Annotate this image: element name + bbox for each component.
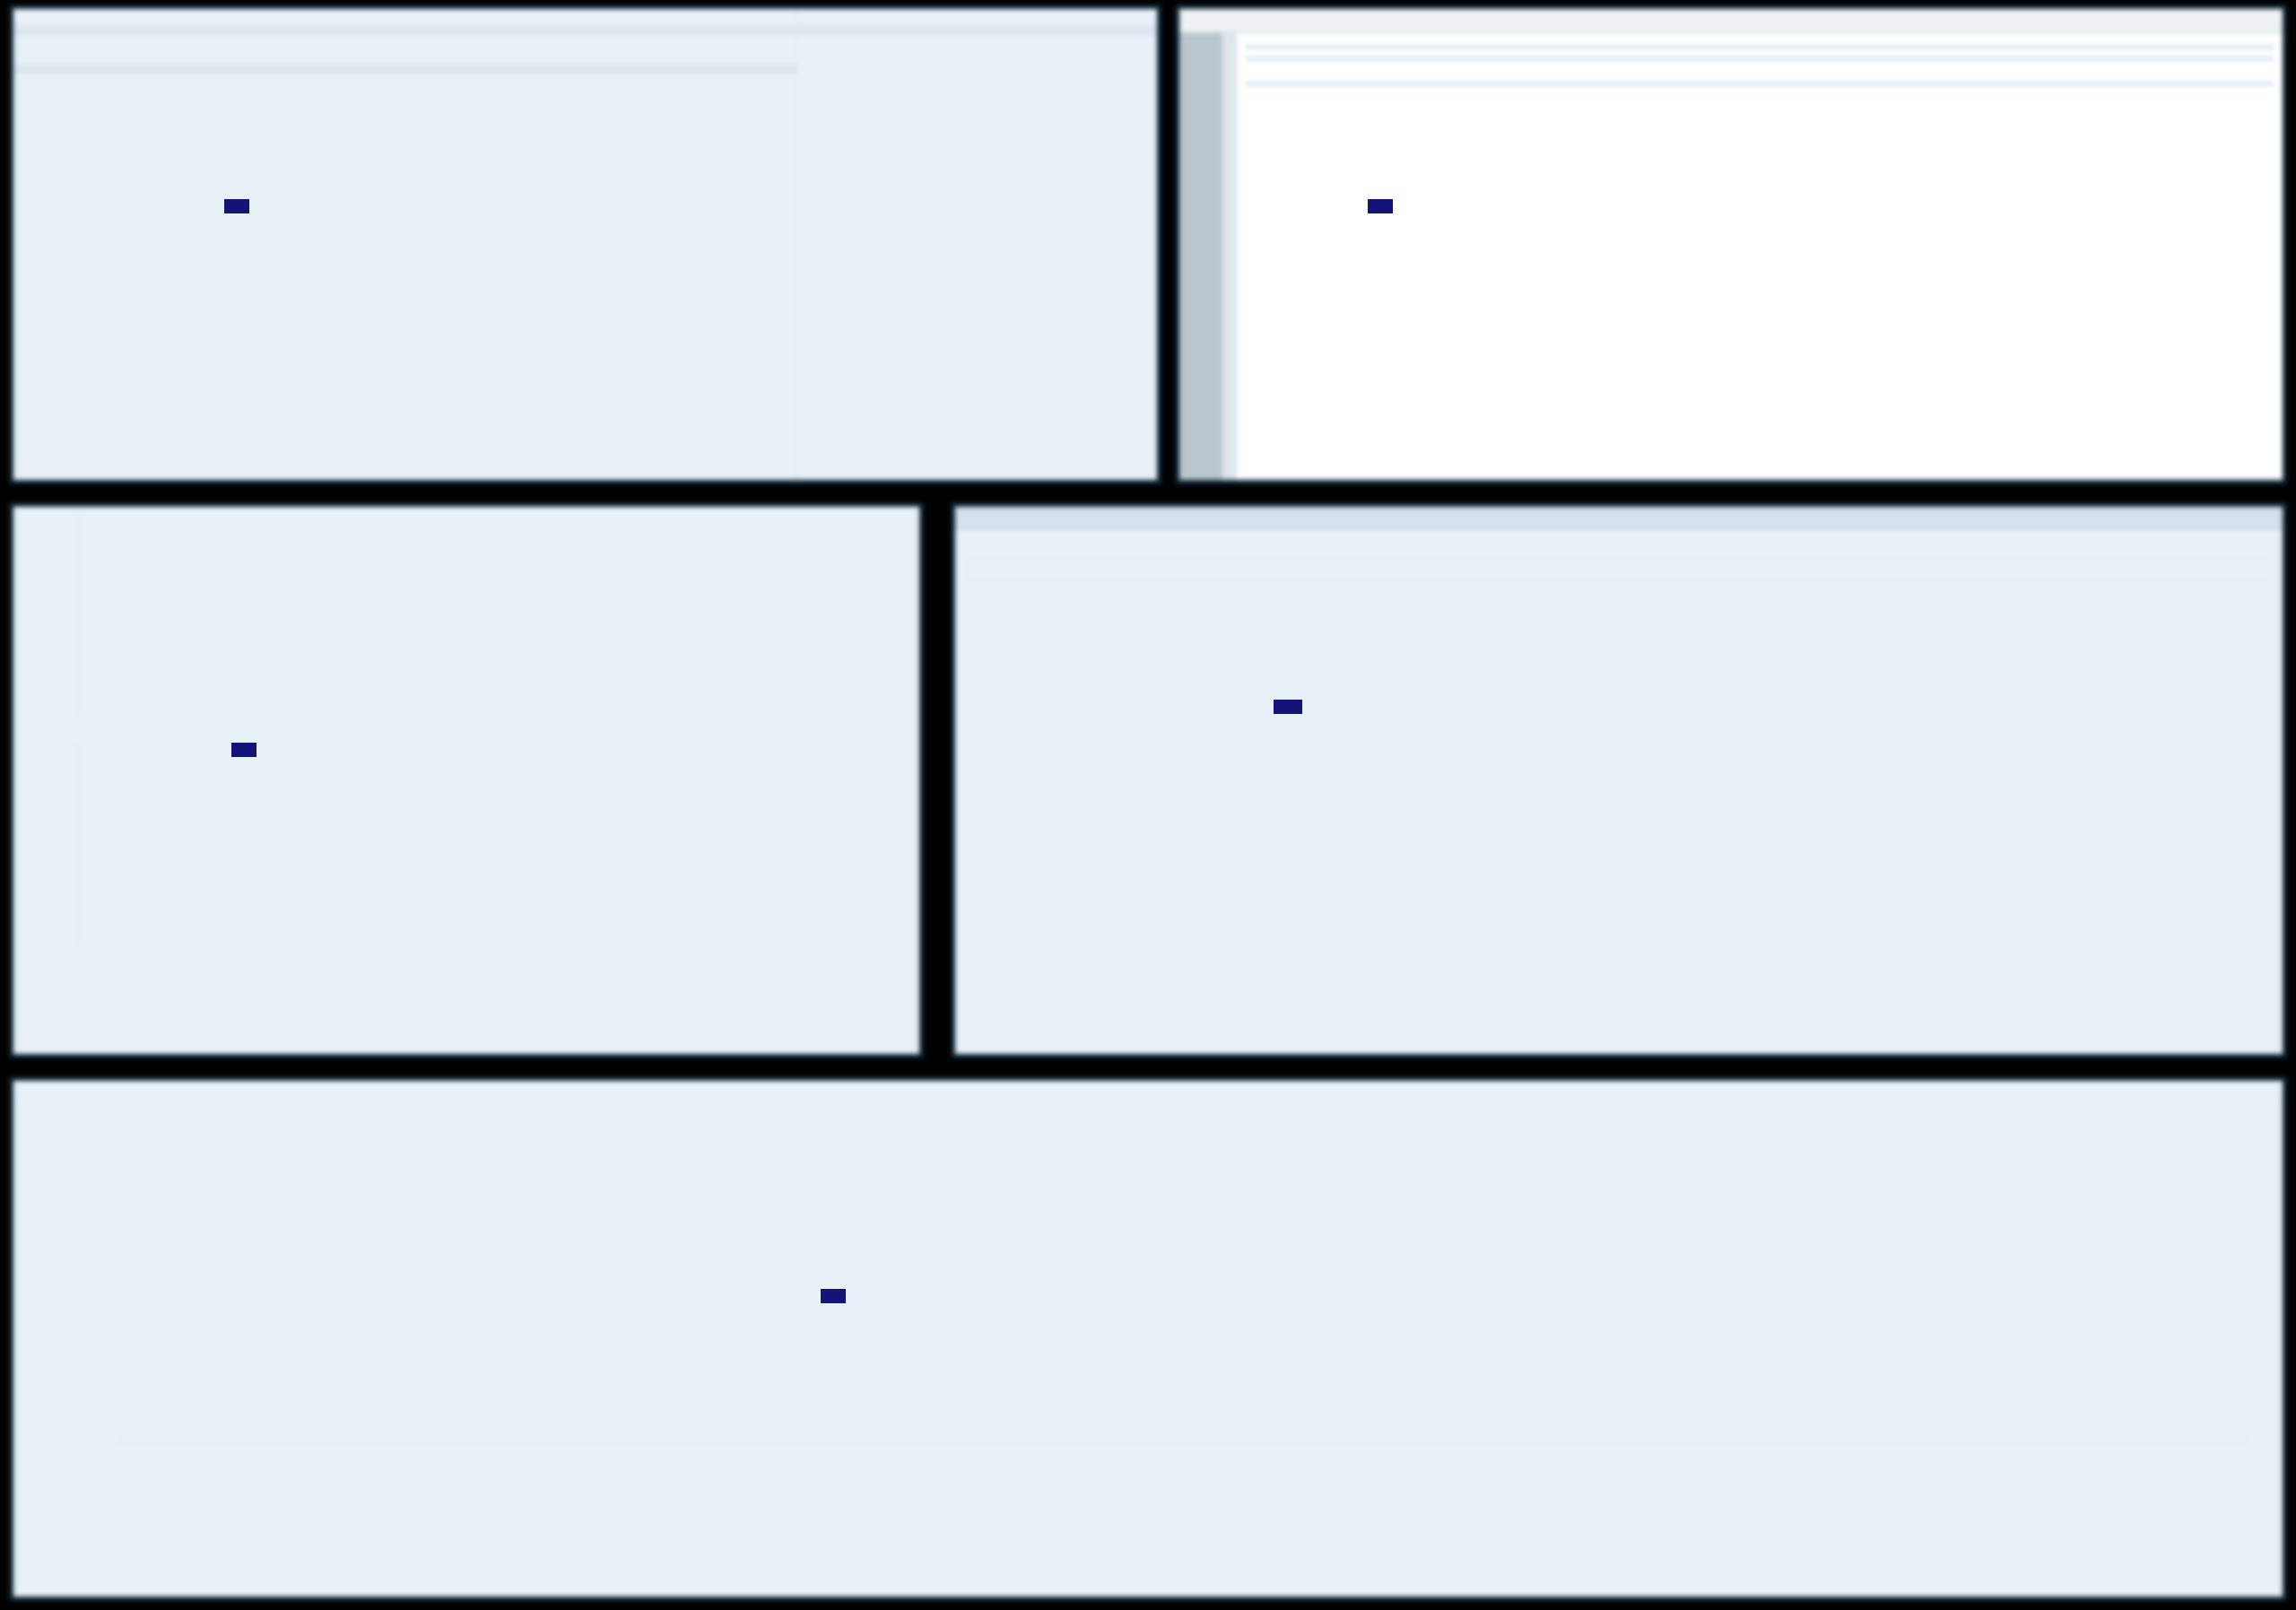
chart-legend[interactable] [13,1476,2283,1489]
ranking-table-right [798,25,1157,35]
y-axis-left [24,745,74,944]
y-axis [40,1118,112,1440]
col-name [798,25,918,35]
exec-block-2-header [1247,58,2273,59]
table-header-row [13,25,797,35]
col-dept-name [170,64,327,74]
ranking-section2-title [13,48,797,60]
project-table-2 [966,559,2272,579]
dashboard-collage [0,0,2296,1610]
exec-block-2 [1246,57,2274,60]
plot-area [76,516,857,715]
exec-block-3 [1246,83,2274,85]
col-people [640,64,797,74]
col-mom [483,64,640,74]
excel-sheet[interactable] [1237,33,2283,480]
panel-monthly-chart [9,1076,2287,1601]
excel-row-gutter [1222,33,1237,480]
y-axis-right [858,745,909,944]
excel-left-rail [1179,33,1222,480]
chart-order-forecast [13,507,919,731]
caption-executive [1368,199,1393,213]
caption-monthly [821,1289,846,1303]
chart-legend[interactable] [24,961,909,968]
panel-forecast-charts [9,502,924,1058]
panel-project-list [951,502,2287,1058]
table-header-row [13,64,797,74]
col-unit [483,25,640,35]
y-axis-left [24,516,74,715]
col-dept [170,25,327,35]
y-axis-right [858,516,909,715]
caption-projects [1274,700,1302,714]
chart-sales-forecast [13,736,919,968]
col-count [1038,25,1157,35]
projects-section-2-title [955,544,2283,555]
caption-forecast [231,743,257,757]
projects-section-3-title [955,579,2283,590]
panel-ranking-table [9,4,1161,484]
plot-area [76,745,857,944]
col-activity [327,64,484,74]
caption-ranking [224,199,249,213]
table-row[interactable] [967,559,2272,579]
exec-block-3-header [1247,83,2273,84]
exec-block-1 [1246,46,2274,48]
ranking-section-title [13,9,797,22]
monthly-chart-title [13,1081,2283,1092]
ranking-table [13,25,797,35]
ranking-table-2 [13,64,797,74]
empty-cell [967,559,2272,579]
tab-bar[interactable] [955,507,2283,530]
col-rank [13,64,170,74]
excel-window-title [1179,9,2283,32]
projects-filter-link-3[interactable] [955,590,2283,594]
col-name [327,25,484,35]
panel-executive-summary [1175,4,2287,484]
projects-section-1-title [955,530,2283,541]
table-header-row [798,25,1157,35]
col-count [640,25,797,35]
ranking-right-title [798,9,1157,22]
plot-area [116,1118,2247,1440]
col-unit [918,25,1037,35]
col-rank [13,25,170,35]
exec-block-1-header [1247,47,2273,48]
